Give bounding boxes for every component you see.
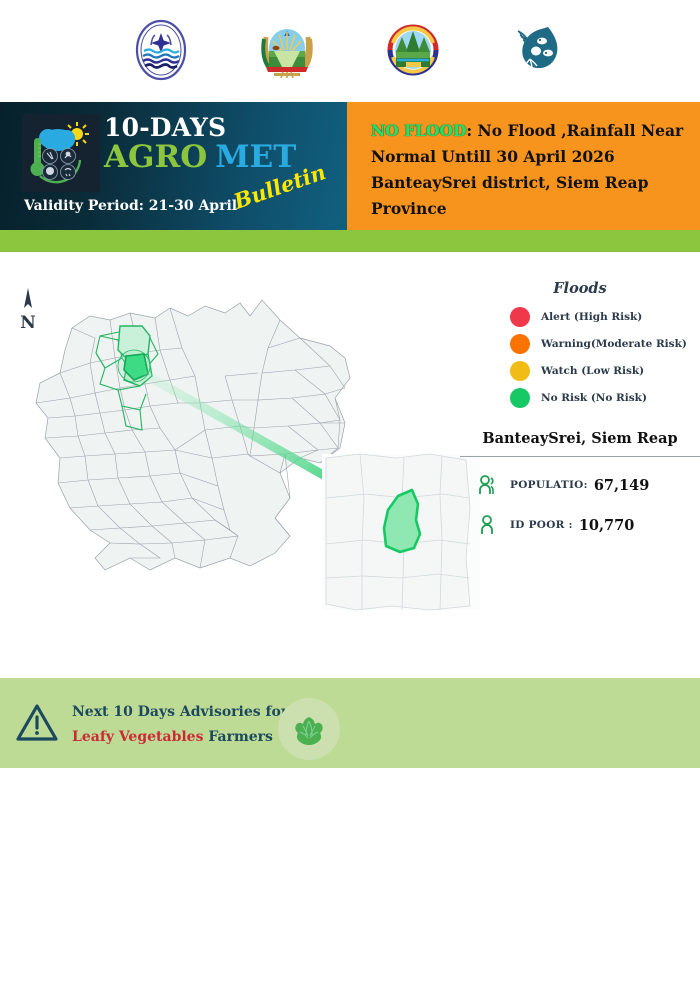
id-poor-value: 10,770 <box>579 517 635 534</box>
advisory-line-1: Next 10 Days Advisories for <box>72 700 288 725</box>
agromet-bulletin-page: 10-DAYS AGROMET Bulletin Validity Period… <box>0 0 700 990</box>
title-met: MET <box>215 139 296 175</box>
legend-item-alert[interactable]: Alert (High Risk) <box>460 307 700 327</box>
warning-triangle-icon <box>16 703 58 743</box>
stat-id-poor: ID POOR : 10,770 <box>460 513 700 537</box>
advisory-text: Next 10 Days Advisories for Leafy Vegeta… <box>72 700 288 750</box>
water-droplet-agriculture-logo <box>506 17 572 83</box>
royal-government-cambodia-emblem <box>254 17 320 83</box>
north-arrow-icon: N <box>16 286 40 334</box>
header-banner: 10-DAYS AGROMET Bulletin Validity Period… <box>0 102 700 230</box>
population-label: POPULATIO: <box>510 479 588 491</box>
stat-population: POPULATIO: 67,149 <box>460 473 700 497</box>
green-divider-strip <box>0 230 700 252</box>
crop-icon-badge <box>278 698 340 760</box>
legend-item-watch[interactable]: Watch (Low Risk) <box>460 361 700 381</box>
cambodia-map[interactable] <box>0 258 480 613</box>
legend-dot-watch <box>510 361 530 381</box>
status-badge: NO FLOOD <box>371 121 466 140</box>
title-days: 10-DAYS <box>104 114 296 141</box>
population-icon <box>476 473 498 497</box>
inset-map <box>322 454 480 610</box>
cambodia-map-svg[interactable] <box>0 258 480 613</box>
legend-item-no-risk[interactable]: No Risk (No Risk) <box>460 388 700 408</box>
legend-label-watch: Watch (Low Risk) <box>541 365 644 377</box>
advisory-crop: Leafy Vegetables <box>72 729 203 745</box>
banner-title-panel: 10-DAYS AGROMET Bulletin Validity Period… <box>0 102 347 230</box>
legend-label-warning: Warning(Moderate Risk) <box>541 338 687 350</box>
logo-bar <box>0 0 700 100</box>
advisory-line-2: Leafy Vegetables Farmers <box>72 725 288 750</box>
title-agromet: AGROMET <box>104 141 296 178</box>
advisory-farmers: Farmers <box>203 729 272 745</box>
legend-item-warning[interactable]: Warning(Moderate Risk) <box>460 334 700 354</box>
district-divider <box>460 456 700 457</box>
ministry-water-resources-meteorology-logo <box>128 17 194 83</box>
status-separator: : <box>466 121 477 140</box>
title-agro: AGRO <box>104 139 207 175</box>
validity-period: Validity Period: 21-30 April <box>24 198 237 214</box>
id-poor-label: ID POOR : <box>510 519 573 531</box>
legend-dot-warning <box>510 334 530 354</box>
leafy-vegetable-icon <box>292 712 326 746</box>
legend-title: Floods <box>460 280 700 297</box>
svg-text:N: N <box>20 313 36 333</box>
map-section: N Floods Alert (High Risk) Warning(Moder… <box>0 258 700 658</box>
legend-label-alert: Alert (High Risk) <box>541 311 642 323</box>
flood-info-panel: Floods Alert (High Risk) Warning(Moderat… <box>460 280 700 537</box>
id-poor-icon <box>476 513 498 537</box>
population-value: 67,149 <box>594 477 650 494</box>
banner-title: 10-DAYS AGROMET <box>104 114 296 178</box>
legend-dot-no-risk <box>510 388 530 408</box>
district-title: BanteaySrei, Siem Reap <box>460 430 700 447</box>
legend-label-no-risk: No Risk (No Risk) <box>541 392 647 404</box>
flood-status-text: NO FLOOD: No Flood ,Rainfall Near Normal… <box>371 118 684 222</box>
advisory-band: Next 10 Days Advisories for Leafy Vegeta… <box>0 678 700 768</box>
flood-status-panel: NO FLOOD: No Flood ,Rainfall Near Normal… <box>347 102 700 230</box>
legend-dot-alert <box>510 307 530 327</box>
agromet-logo-icon <box>22 114 100 192</box>
siem-reap-province-logo <box>380 17 446 83</box>
